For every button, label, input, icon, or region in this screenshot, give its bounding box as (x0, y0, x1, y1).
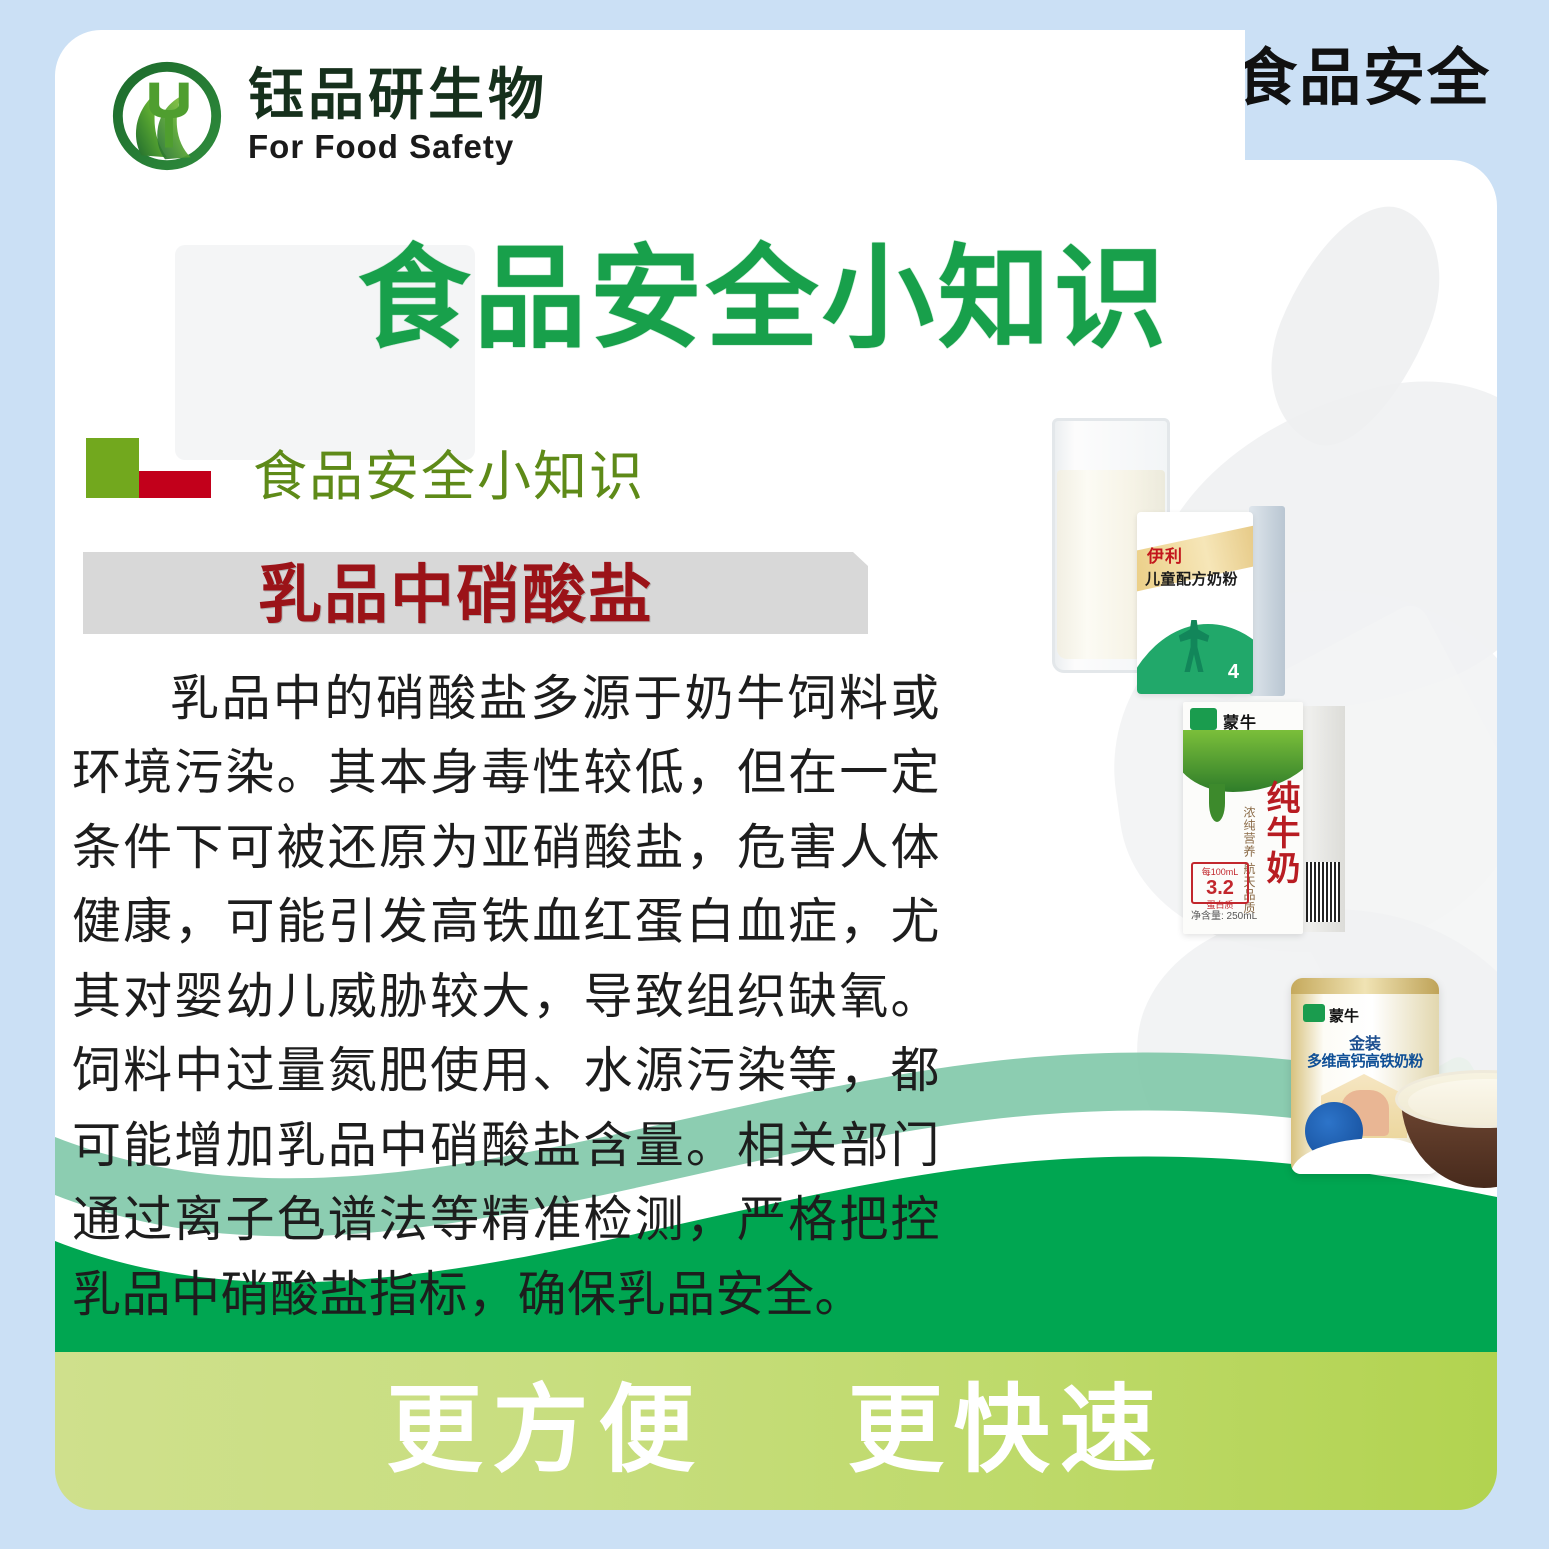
logo-company-name-en: For Food Safety (248, 129, 548, 165)
company-logo: 钰品研生物 For Food Safety (108, 57, 548, 175)
poster-root: 20年专注食品安全 伊利 儿童配方奶粉 (0, 0, 1549, 1549)
footer-banner-text: 更方便 更快速 (386, 1383, 1165, 1479)
section-label: 食品安全小知识 (86, 438, 645, 498)
article-heading: 乳品中硝酸盐 (258, 560, 654, 630)
section-label-text: 食品安全小知识 (253, 450, 645, 504)
red-bar-marker-icon (139, 471, 211, 498)
page-title: 食品安全小知识 (358, 243, 1170, 355)
leaf-circle-logo-icon (108, 57, 226, 175)
footer-text-1: 更方便 (386, 1377, 704, 1484)
green-square-marker-icon (86, 438, 139, 498)
logo-company-name-cn: 钰品研生物 (248, 66, 548, 125)
footer-text-2: 更快速 (848, 1377, 1166, 1484)
footer-banner: 更方便 更快速 (55, 1352, 1497, 1510)
green-strip (55, 1342, 1497, 1352)
article-body: 乳品中的硝酸盐多源于奶牛饲料或环境污染。其本身毒性较低，但在一定条件下可被还原为… (72, 662, 940, 1332)
